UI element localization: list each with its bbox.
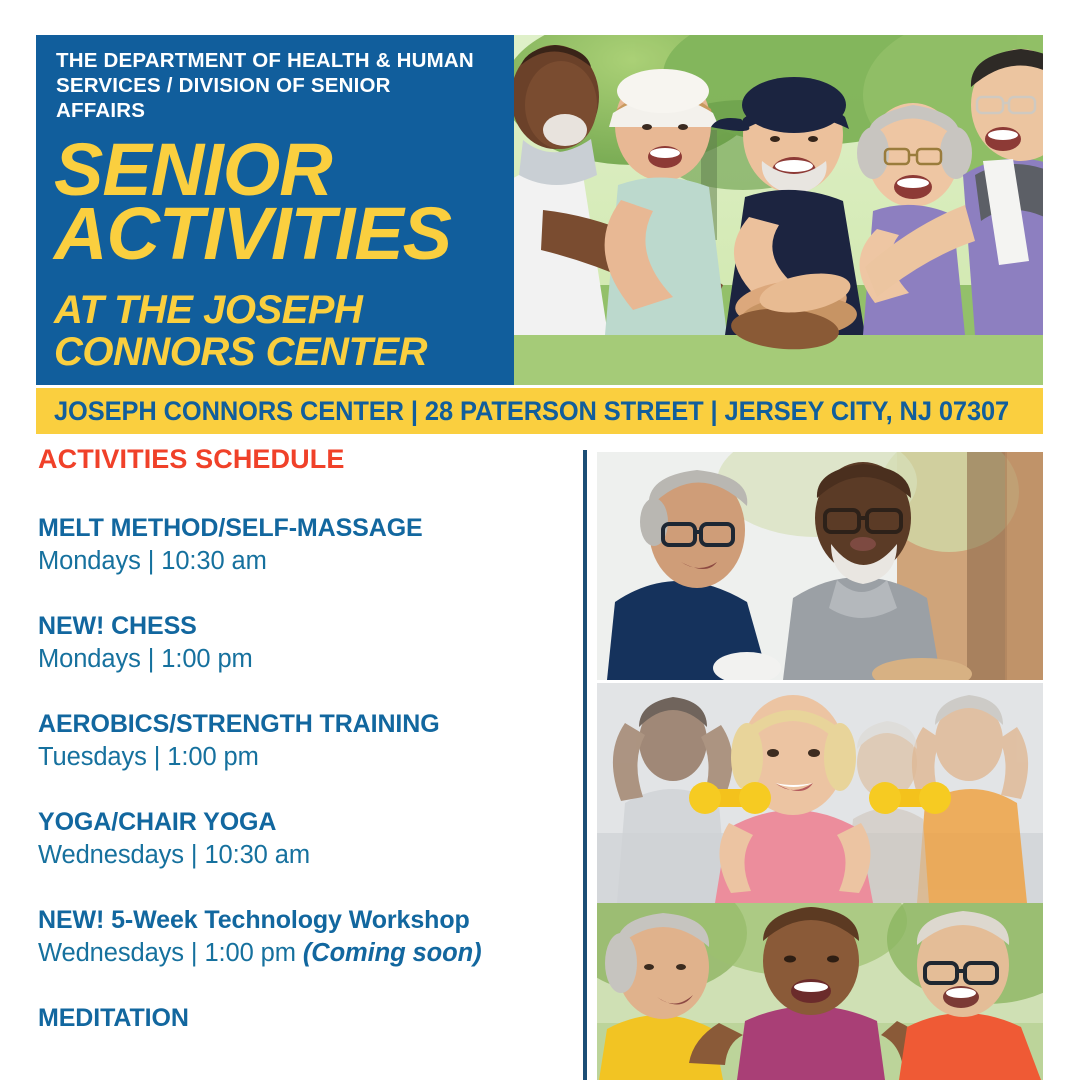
page-subtitle-line1: AT THE JOSEPH bbox=[54, 289, 524, 331]
activity-time: Wednesdays | 1:00 pm (Coming soon) bbox=[38, 937, 558, 969]
activity-note: (Coming soon) bbox=[303, 939, 482, 967]
activity-time: Wednesdays | 10:30 am bbox=[38, 839, 558, 871]
schedule-item: MELT METHOD/SELF-MASSAGE Mondays | 10:30… bbox=[38, 513, 558, 577]
address-text: JOSEPH CONNORS CENTER | 28 PATERSON STRE… bbox=[54, 388, 1009, 434]
department-label: THE DEPARTMENT OF HEALTH & HUMAN SERVICE… bbox=[56, 48, 476, 123]
activity-time-text: Wednesdays | 1:00 pm bbox=[38, 939, 303, 967]
photo-senior-couple bbox=[597, 452, 1043, 680]
activity-name: YOGA/CHAIR YOGA bbox=[38, 807, 558, 837]
hero-banner: THE DEPARTMENT OF HEALTH & HUMAN SERVICE… bbox=[36, 35, 1043, 385]
page-title: SENIOR ACTIVITIES bbox=[54, 138, 524, 266]
hero-blue-panel: THE DEPARTMENT OF HEALTH & HUMAN SERVICE… bbox=[36, 35, 514, 385]
schedule-item: MEDITATION bbox=[38, 1003, 558, 1033]
photo-stack bbox=[597, 452, 1043, 1080]
poster-canvas: THE DEPARTMENT OF HEALTH & HUMAN SERVICE… bbox=[0, 0, 1080, 1080]
activity-name: NEW! CHESS bbox=[38, 611, 558, 641]
activity-name: MELT METHOD/SELF-MASSAGE bbox=[38, 513, 558, 543]
photo-strength-class bbox=[597, 683, 1043, 903]
photo-three-women bbox=[597, 903, 1043, 1080]
activity-name: NEW! 5-Week Technology Workshop bbox=[38, 905, 558, 935]
activity-name: MEDITATION bbox=[38, 1003, 558, 1033]
activities-schedule: ACTIVITIES SCHEDULE MELT METHOD/SELF-MAS… bbox=[38, 444, 558, 1067]
schedule-item: NEW! 5-Week Technology Workshop Wednesda… bbox=[38, 905, 558, 969]
schedule-item: NEW! CHESS Mondays | 1:00 pm bbox=[38, 611, 558, 675]
activity-time: Mondays | 1:00 pm bbox=[38, 643, 558, 675]
address-bar: JOSEPH CONNORS CENTER | 28 PATERSON STRE… bbox=[36, 388, 1043, 434]
page-title-line2: ACTIVITIES bbox=[54, 202, 524, 266]
activity-time: Tuesdays | 1:00 pm bbox=[38, 741, 558, 773]
schedule-item: YOGA/CHAIR YOGA Wednesdays | 10:30 am bbox=[38, 807, 558, 871]
activity-time: Mondays | 10:30 am bbox=[38, 545, 558, 577]
schedule-item: AEROBICS/STRENGTH TRAINING Tuesdays | 1:… bbox=[38, 709, 558, 773]
page-subtitle-line2: CONNORS CENTER bbox=[54, 331, 524, 373]
vertical-divider bbox=[583, 450, 587, 1080]
page-subtitle: AT THE JOSEPH CONNORS CENTER bbox=[54, 289, 524, 373]
activity-name: AEROBICS/STRENGTH TRAINING bbox=[38, 709, 558, 739]
schedule-heading: ACTIVITIES SCHEDULE bbox=[38, 444, 558, 475]
hero-photo bbox=[513, 35, 1043, 385]
